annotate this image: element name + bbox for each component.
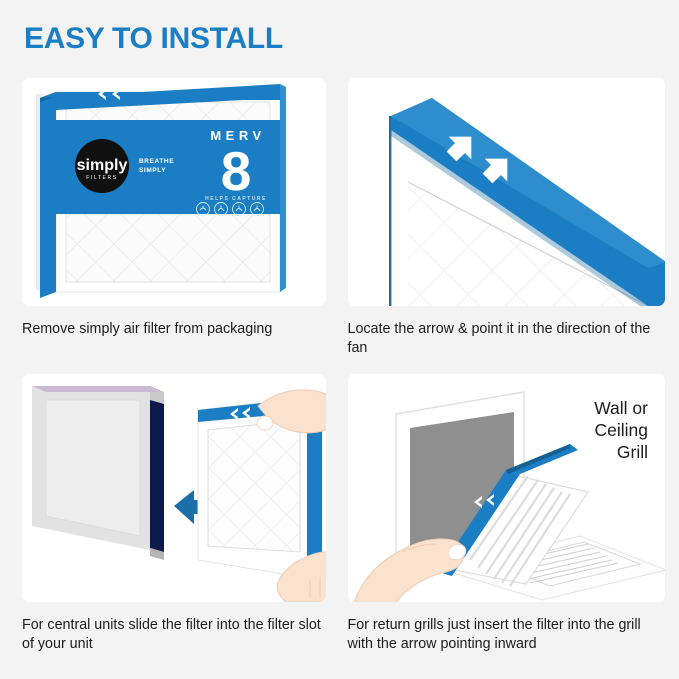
- grill-label-line-3: Grill: [616, 442, 647, 462]
- page-title: EASY TO INSTALL: [24, 22, 283, 56]
- filter-edge-airflow-illustration: [348, 78, 666, 306]
- panel-3-card: [22, 374, 326, 602]
- hvac-unit: [32, 386, 164, 560]
- panel-central-unit: For central units slide the filter into …: [0, 374, 340, 654]
- slide-filter-into-unit-illustration: [22, 374, 326, 602]
- panel-1-card: simply FILTERS BREATHE SIMPLY MERV 8 HEL…: [22, 78, 326, 306]
- panel-row-2: For central units slide the filter into …: [0, 374, 679, 654]
- tagline-line-2: SIMPLY: [139, 167, 166, 174]
- tagline-line-1: BREATHE: [139, 158, 174, 165]
- filter-box-package-illustration: simply FILTERS BREATHE SIMPLY MERV 8 HEL…: [22, 78, 326, 306]
- merv-value: 8: [221, 140, 252, 202]
- panel-grid: simply FILTERS BREATHE SIMPLY MERV 8 HEL…: [0, 78, 679, 654]
- thumb-tip: [257, 416, 273, 430]
- panel-4-caption: For return grills just insert the filter…: [348, 616, 658, 654]
- unit-inner-panel: [46, 400, 140, 536]
- panel-2-caption: Locate the arrow & point it in the direc…: [348, 320, 658, 358]
- filter-media: [208, 420, 300, 552]
- panel-3-caption: For central units slide the filter into …: [22, 616, 322, 654]
- hand-shape: [354, 539, 464, 602]
- panel-row-1: simply FILTERS BREATHE SIMPLY MERV 8 HEL…: [0, 78, 679, 358]
- panel-remove-from-packaging: simply FILTERS BREATHE SIMPLY MERV 8 HEL…: [0, 78, 340, 358]
- unit-top: [32, 386, 164, 392]
- panel-2-card: [348, 78, 666, 306]
- grill-label-line-1: Wall or: [594, 398, 648, 418]
- brand-name: simply: [77, 157, 128, 174]
- panel-4-card: Wall or Ceiling Grill: [348, 374, 666, 602]
- box-spine: [40, 92, 56, 298]
- hand-top: [257, 390, 326, 433]
- panel-1-caption: Remove simply air filter from packaging: [22, 320, 322, 339]
- grill-label-line-2: Ceiling: [594, 420, 648, 440]
- panel-locate-arrow: Locate the arrow & point it in the direc…: [340, 78, 679, 358]
- easy-to-install-infographic: EASY TO INSTALL: [0, 0, 679, 679]
- wall-grill-illustration: Wall or Ceiling Grill: [348, 374, 666, 602]
- frame-left-edge: [389, 116, 391, 306]
- unit-filter-slot: [150, 400, 164, 552]
- brand-subname: FILTERS: [86, 175, 117, 181]
- panel-return-grill: Wall or Ceiling Grill For return grills …: [340, 374, 679, 654]
- box-right-edge: [280, 84, 286, 292]
- hand-opening-grill: [354, 539, 468, 602]
- box-top-edge: [56, 92, 280, 100]
- helps-capture-label: HELPS CAPTURE: [205, 196, 267, 202]
